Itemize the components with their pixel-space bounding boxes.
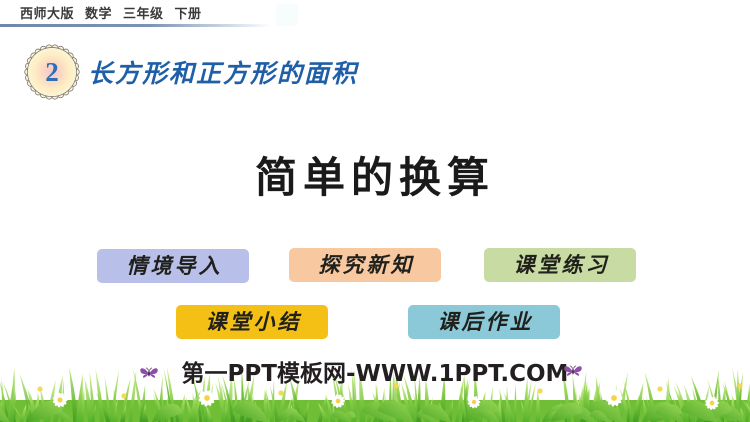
page-title: 简单的换算 (0, 144, 750, 205)
nav-button-3[interactable]: 课堂练习 (484, 248, 636, 282)
nav-button-1[interactable]: 情境导入 (97, 249, 249, 283)
bottom-watermark: 第一PPT模板网-WWW.1PPT.COM (0, 354, 750, 388)
chapter-title: 长方形和正方形的面积 (88, 54, 358, 90)
butterfly-icon-1 (138, 362, 160, 389)
nav-button-5[interactable]: 课后作业 (408, 305, 560, 339)
chapter-number: 2 (24, 44, 80, 100)
corner-watermark-icon (276, 4, 298, 26)
nav-button-4[interactable]: 课堂小结 (176, 305, 328, 339)
header-publisher: 西师大版 (20, 7, 74, 22)
header-divider (0, 24, 272, 27)
header-bar: 西师大版数学三年级下册 (0, 0, 750, 27)
nav-button-2[interactable]: 探究新知 (289, 248, 441, 282)
butterfly-icon-2 (562, 360, 584, 387)
header-grade: 三年级 (123, 7, 164, 22)
chapter-badge: 2 (24, 44, 80, 100)
slide-canvas: 西师大版数学三年级下册 2 长方形和正方形的面积 简单的换算 情境导入探究新知课… (0, 0, 750, 422)
header-subject: 数学 (85, 7, 112, 22)
header-volume: 下册 (175, 7, 202, 22)
header-meta: 西师大版数学三年级下册 (20, 3, 213, 22)
